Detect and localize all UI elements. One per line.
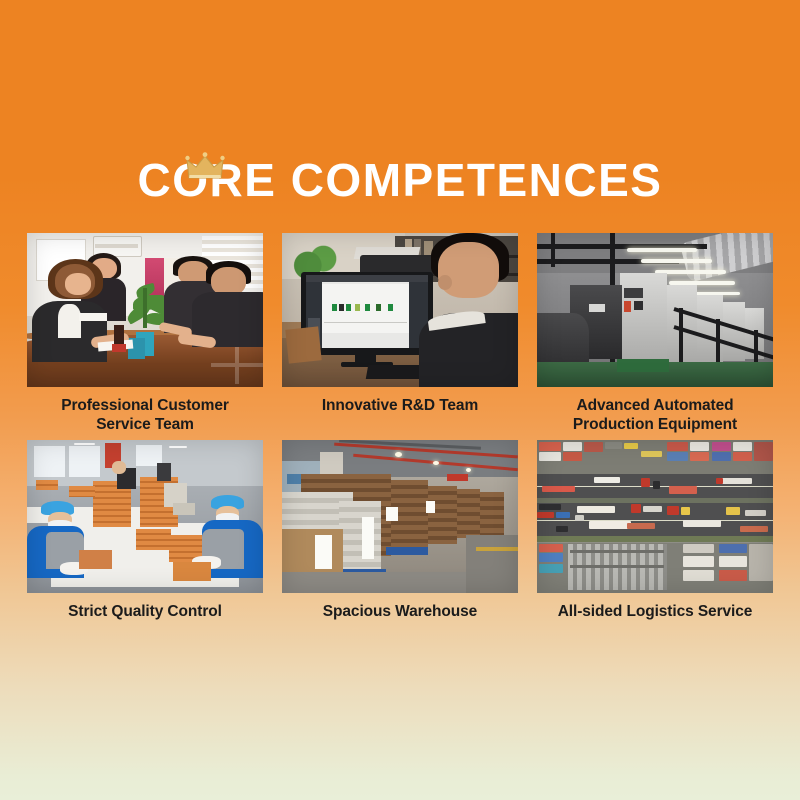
competence-card: Professional Customer Service Team (27, 233, 263, 434)
competence-card: Advanced Automated Production Equipment (537, 233, 773, 434)
competence-card: Spacious Warehouse (282, 440, 518, 621)
card-caption: Strict Quality Control (27, 593, 263, 621)
meeting-room-photo (27, 233, 263, 387)
caption-line: Advanced Automated (577, 397, 734, 414)
core-competences-banner: CORE COMPETENCES (0, 0, 800, 800)
competences-grid: Professional Customer Service Team (27, 233, 773, 621)
page-title: CORE COMPETENCES (0, 150, 800, 210)
caption-line: All-sided Logistics Service (558, 603, 753, 620)
card-caption: All-sided Logistics Service (537, 593, 773, 621)
printing-press-photo (537, 233, 773, 387)
warehouse-photo (282, 440, 518, 593)
caption-line: Innovative R&D Team (322, 397, 478, 414)
card-caption: Professional Customer Service Team (27, 387, 263, 434)
competence-card: All-sided Logistics Service (537, 440, 773, 621)
competence-card: Strict Quality Control (27, 440, 263, 621)
rd-workstation-photo (282, 233, 518, 387)
card-caption: Advanced Automated Production Equipment (537, 387, 773, 434)
logistics-aerial-photo (537, 440, 773, 593)
competence-card: Innovative R&D Team (282, 233, 518, 434)
title-block: CORE COMPETENCES (0, 150, 800, 210)
crown-icon (185, 152, 225, 182)
quality-control-photo (27, 440, 263, 593)
card-caption: Spacious Warehouse (282, 593, 518, 621)
caption-line: Professional Customer (61, 397, 229, 414)
card-caption: Innovative R&D Team (282, 387, 518, 415)
caption-line: Spacious Warehouse (323, 603, 477, 620)
caption-line: Service Team (96, 416, 194, 433)
caption-line: Strict Quality Control (68, 603, 222, 620)
caption-line: Production Equipment (573, 416, 737, 433)
